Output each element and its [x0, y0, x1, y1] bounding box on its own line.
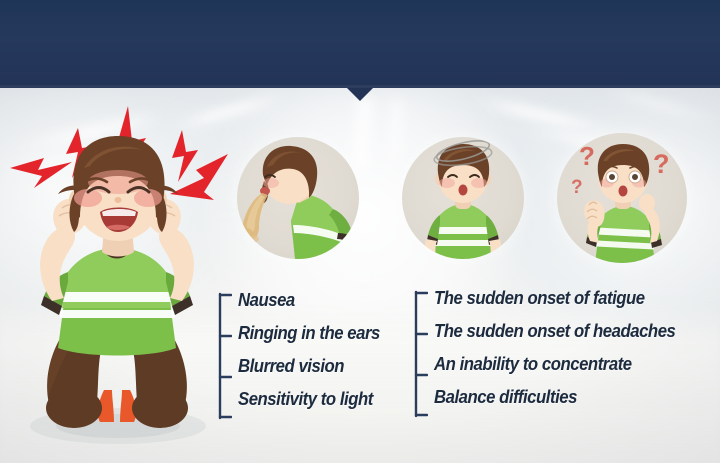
vomiting-illustration — [237, 137, 359, 259]
header-notch-icon — [347, 88, 373, 101]
list-item: The sudden onset of fatigue — [434, 282, 675, 315]
list-bracket-right-icon — [412, 290, 428, 418]
list-item: An inability to concentrate — [434, 348, 675, 381]
shirt-stripe — [60, 310, 175, 318]
shirt-stripe — [62, 292, 173, 302]
infographic-canvas: Signs and symptoms of a concussion may i… — [0, 0, 720, 463]
list-bracket-left-icon — [216, 292, 232, 420]
dizziness-illustration — [402, 137, 524, 259]
list-item: Nausea — [238, 284, 380, 317]
question-mark-icon: ? — [653, 149, 670, 179]
list-item: Sensitivity to light — [238, 383, 380, 416]
main-boy-illustration — [0, 96, 240, 446]
symptom-list-left: Nausea Ringing in the ears Blurred visio… — [216, 284, 391, 416]
list-item: The sudden onset of headaches — [434, 315, 675, 348]
vignette-confusion: ? ? ? — [557, 133, 687, 263]
vignette-dizziness — [402, 137, 524, 259]
vignette-vomiting — [237, 137, 359, 259]
list-item: Ringing in the ears — [238, 317, 380, 350]
question-mark-icon: ? — [571, 177, 583, 198]
symptom-list-left-items: Nausea Ringing in the ears Blurred visio… — [238, 284, 391, 416]
list-item: Blurred vision — [238, 350, 380, 383]
header-banner — [0, 0, 720, 88]
symptom-list-right-items: The sudden onset of fatigue The sudden o… — [434, 282, 694, 414]
question-mark-icon: ? — [579, 141, 595, 171]
symptom-list-right: The sudden onset of fatigue The sudden o… — [412, 282, 694, 414]
confusion-illustration: ? ? ? — [557, 133, 687, 263]
list-item: Balance difficulties — [434, 381, 675, 414]
